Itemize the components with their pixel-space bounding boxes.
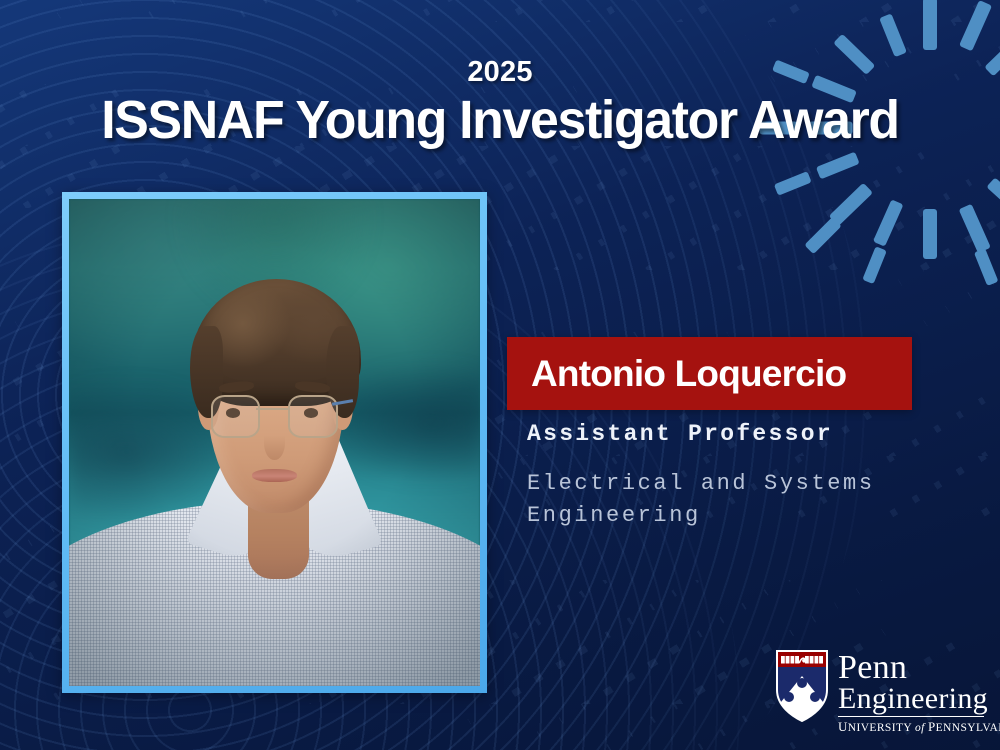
penn-sub-of: of [915, 722, 925, 734]
penn-logo-divider [838, 716, 984, 717]
penn-sub-niversity: NIVERSITY [848, 722, 912, 734]
penn-sub-u: U [838, 719, 848, 734]
penn-logo-subtitle: UNIVERSITY of PENNSYLVANIA [838, 719, 1000, 735]
award-title: ISSNAF Young Investigator Award [20, 92, 980, 149]
portrait-frame [62, 192, 487, 693]
award-slide: 2025 ISSNAF Young Investigator Award [0, 0, 1000, 750]
penn-word-engineering: Engineering [838, 685, 1000, 713]
photo-vignette [69, 199, 480, 686]
penn-engineering-logo: Penn Engineering UNIVERSITY of PENNSYLVA… [776, 650, 988, 734]
honoree-name-banner: Antonio Loquercio [507, 337, 912, 410]
sunburst-ray [923, 209, 937, 259]
honoree-department: Electrical and Systems Engineering [527, 468, 907, 532]
sunburst-ray [924, 0, 937, 2]
award-year: 2025 [0, 56, 1000, 89]
penn-word-penn: Penn [838, 652, 1000, 683]
penn-sub-p: P [928, 719, 936, 734]
sunburst-ray [923, 0, 937, 50]
honoree-name: Antonio Loquercio [507, 353, 846, 395]
honoree-role: Assistant Professor [527, 421, 833, 447]
penn-sub-ennsylvania: ENNSYLVANIA [936, 722, 1000, 734]
honoree-photo [69, 199, 480, 686]
penn-logo-wordmark: Penn Engineering UNIVERSITY of PENNSYLVA… [838, 650, 1000, 735]
penn-shield-icon [776, 650, 828, 722]
